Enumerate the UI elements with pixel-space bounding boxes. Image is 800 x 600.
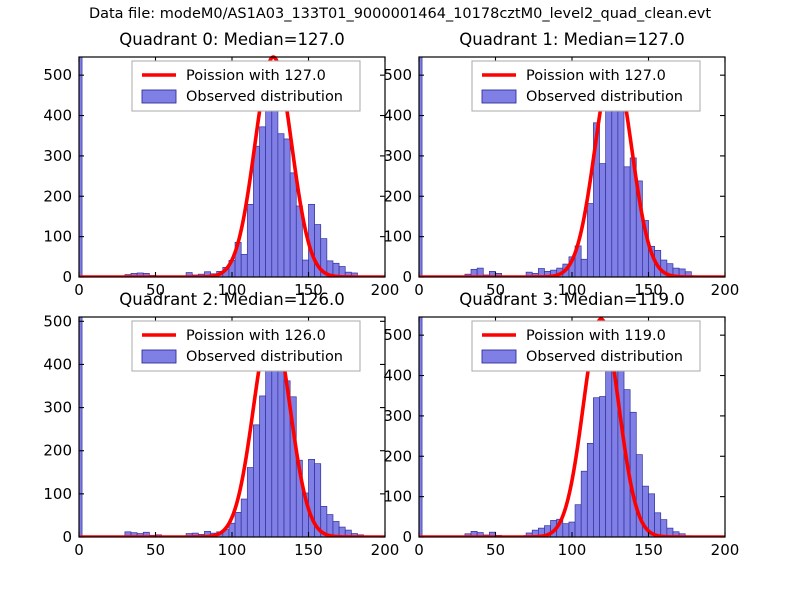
figure-canvas: Data file: modeM0/AS1A03_133T01_90000014… <box>0 0 800 600</box>
y-tick-label: 500 <box>383 326 412 344</box>
x-tick-label: 0 <box>414 541 424 559</box>
histogram-bar <box>593 398 599 537</box>
plot-quadrant-3: 0501001502000100200300400500Poission wit… <box>0 0 800 600</box>
legend-swatch-observed-patch <box>482 350 516 363</box>
legend-label-poisson: Poission with 119.0 <box>526 328 666 344</box>
legend-quadrant-3[interactable]: Poission with 119.0Observed distribution <box>472 321 700 371</box>
y-tick-label: 400 <box>383 367 412 385</box>
histogram-bar <box>661 520 667 537</box>
histogram-bar <box>575 505 581 537</box>
legend-label-observed: Observed distribution <box>526 349 683 365</box>
y-tick-label: 300 <box>383 407 412 425</box>
x-tick-label: 200 <box>711 541 740 559</box>
x-tick-label: 50 <box>486 541 505 559</box>
x-tick-label: 150 <box>634 541 663 559</box>
histogram-bar <box>587 443 593 537</box>
histogram-bar <box>630 412 636 537</box>
histogram-bar <box>581 471 587 537</box>
x-tick-label: 100 <box>558 541 587 559</box>
y-tick-label: 200 <box>383 447 412 465</box>
histogram-bar <box>563 524 569 537</box>
y-tick-label: 100 <box>383 488 412 506</box>
histogram-bar <box>600 397 606 537</box>
y-tick-label: 0 <box>402 528 412 546</box>
histogram-bar <box>606 364 612 537</box>
